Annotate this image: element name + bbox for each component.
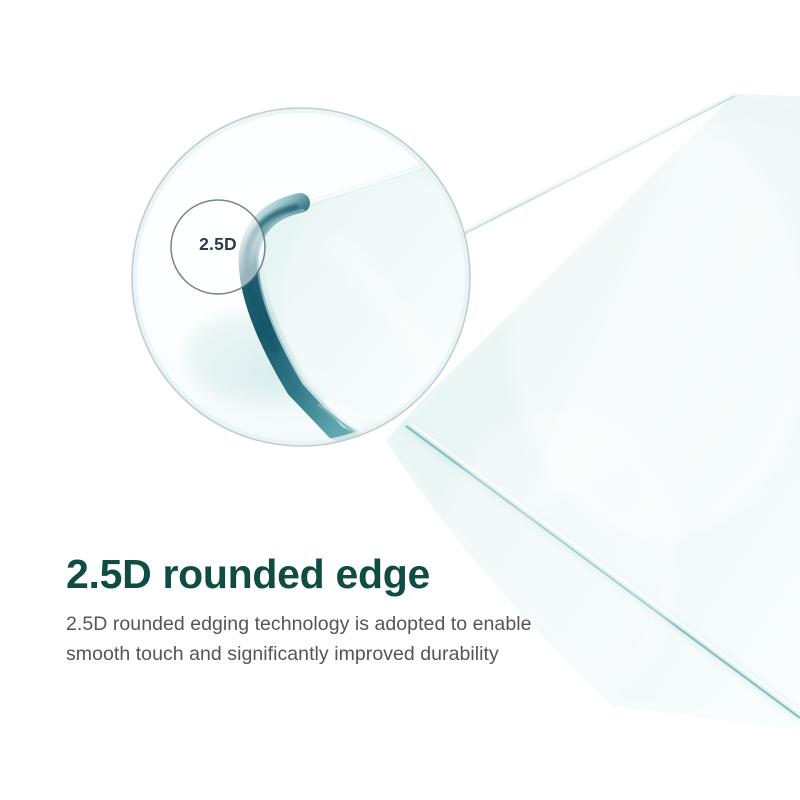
product-feature-image: 2.5D 2.5D rounded edge 2.5D rounded edgi…	[0, 0, 800, 800]
feature-description-line-2: smooth touch and significantly improved …	[66, 640, 686, 670]
feature-description-line-1: 2.5D rounded edging technology is adopte…	[66, 610, 686, 640]
feature-description: 2.5D rounded edging technology is adopte…	[66, 610, 686, 669]
feature-title: 2.5D rounded edge	[66, 552, 686, 596]
glass-illustration	[0, 0, 800, 800]
callout-2-5d-label: 2.5D	[176, 236, 260, 254]
caption-block: 2.5D rounded edge 2.5D rounded edging te…	[66, 552, 686, 670]
